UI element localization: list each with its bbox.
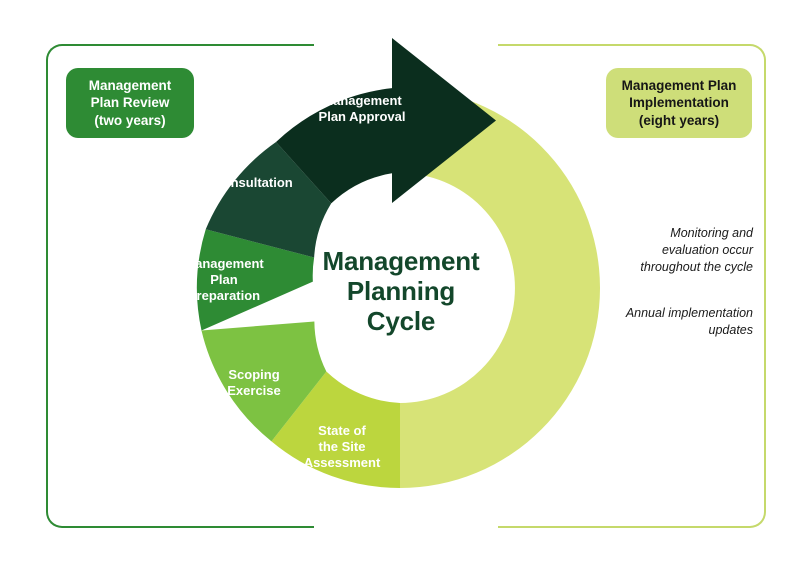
label-line: Assessment xyxy=(296,455,388,471)
note-line: Monitoring and xyxy=(670,226,753,240)
center-title-line: Management xyxy=(290,246,512,276)
badge-management-plan-review[interactable]: Management Plan Review (two years) xyxy=(66,68,194,138)
note-line: evaluation occur xyxy=(662,243,753,257)
segment-label-consultation: Consultation xyxy=(197,175,309,191)
badge-line: Plan Review xyxy=(89,94,172,111)
note-annual-implementation-updates: Annual implementation updates xyxy=(623,305,753,339)
note-line: Annual xyxy=(626,306,665,320)
wheel-center-title: Management Planning Cycle xyxy=(290,246,512,336)
label-line: Management xyxy=(300,93,424,109)
segment-label-management-plan-approval: Management Plan Approval xyxy=(300,93,424,125)
badge-line: Management xyxy=(89,77,172,94)
label-line: Management xyxy=(170,256,278,272)
label-line: Plan xyxy=(170,272,278,288)
badge-line: (two years) xyxy=(89,112,172,129)
label-line: the Site xyxy=(296,439,388,455)
label-line: State of xyxy=(296,423,388,439)
center-title-line: Planning xyxy=(290,276,512,306)
badge-line: Implementation xyxy=(622,94,737,111)
note-monitoring-and-evaluation: Monitoring and evaluation occur througho… xyxy=(623,225,753,276)
label-line: Preparation xyxy=(170,288,278,304)
badge-management-plan-implementation[interactable]: Management Plan Implementation (eight ye… xyxy=(606,68,752,138)
segment-label-management-plan-preparation: Management Plan Preparation xyxy=(170,256,278,304)
label-line: Scoping xyxy=(206,367,302,383)
label-line: Exercise xyxy=(206,383,302,399)
label-line: Plan Approval xyxy=(300,109,424,125)
label-line: Consultation xyxy=(197,175,309,191)
note-line: updates xyxy=(709,323,753,337)
segment-label-scoping-exercise: Scoping Exercise xyxy=(206,367,302,399)
badge-line: (eight years) xyxy=(622,112,737,129)
segment-label-state-of-the-site-assessment: State of the Site Assessment xyxy=(296,423,388,471)
diagram-canvas: Management Plan Approval Consultation Ma… xyxy=(0,0,800,568)
badge-line: Management Plan xyxy=(622,77,737,94)
note-line: implementation xyxy=(668,306,753,320)
center-title-line: Cycle xyxy=(290,306,512,336)
note-line: throughout xyxy=(640,260,700,274)
note-line: the cycle xyxy=(704,260,753,274)
